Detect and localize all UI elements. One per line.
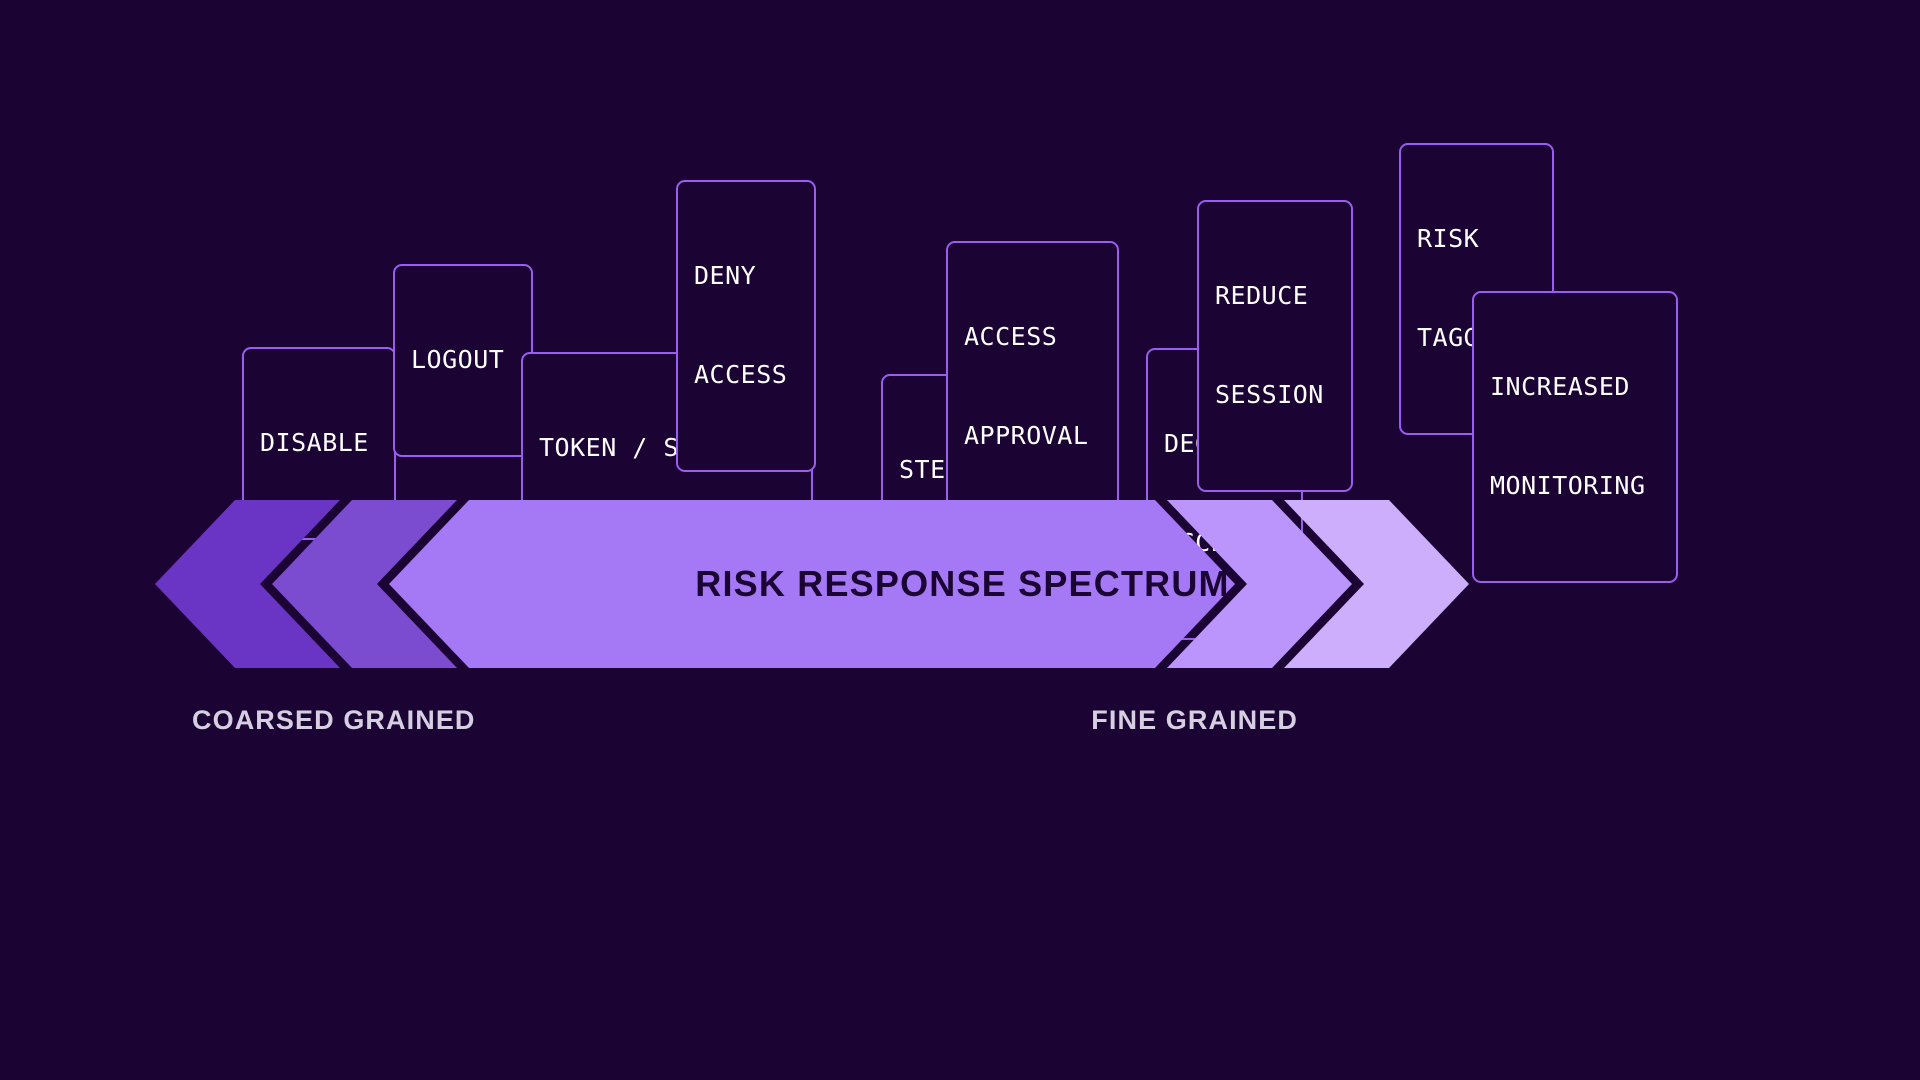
label-line: ACCESS (694, 358, 798, 391)
risk-response-spectrum-band (155, 500, 1770, 668)
label-line: DISABLE (260, 426, 378, 459)
label-line: ACCESS (964, 320, 1101, 353)
label-reduce-session[interactable]: REDUCE SESSION (1197, 200, 1353, 492)
label-line: MONITORING (1490, 469, 1660, 502)
label-line: RISK (1417, 222, 1536, 255)
label-logout[interactable]: LOGOUT (393, 264, 533, 457)
spectrum-segment-3[interactable] (389, 500, 1235, 668)
label-line: LOGOUT (411, 343, 515, 376)
label-deny-access[interactable]: DENY ACCESS (676, 180, 816, 472)
label-access-approval[interactable]: ACCESS APPROVAL (946, 241, 1119, 533)
label-line: APPROVAL (964, 419, 1101, 452)
caption-coarse-grained: COARSED GRAINED (192, 705, 476, 736)
label-line: SESSION (1215, 378, 1335, 411)
label-line: REDUCE (1215, 279, 1335, 312)
label-line: DENY (694, 259, 798, 292)
diagram-canvas: DISABLE LOGOUT TOKEN / SESSION BLACKLIST… (0, 0, 1920, 1080)
caption-fine-grained: FINE GRAINED (1091, 705, 1298, 736)
label-line: INCREASED (1490, 370, 1660, 403)
